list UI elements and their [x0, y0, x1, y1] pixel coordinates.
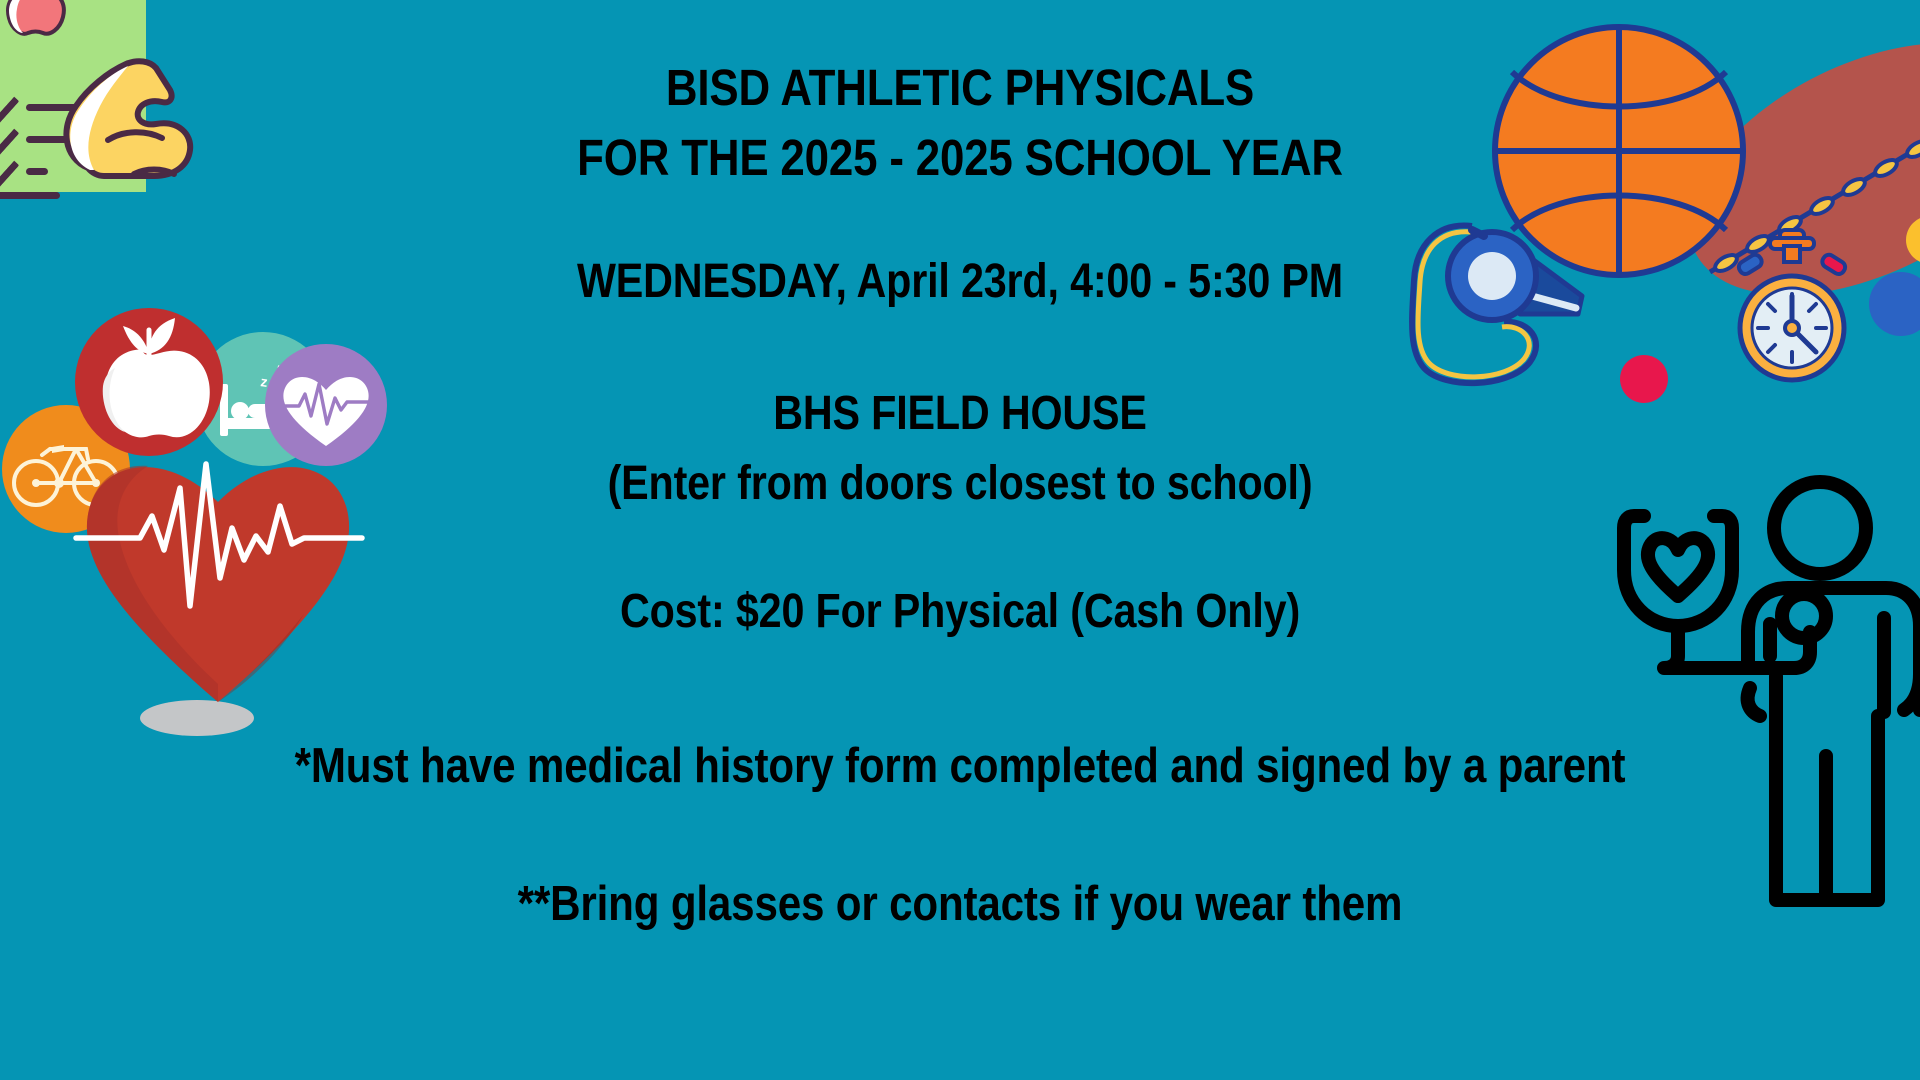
checklist-rule-3 — [26, 168, 48, 175]
flexed-bicep-icon — [46, 28, 196, 180]
checkmark-icon-3 — [0, 151, 19, 190]
cost-line: Cost: $20 For Physical (Cash Only) — [134, 588, 1785, 636]
stopwatch-icon — [1728, 228, 1856, 388]
blue-dot — [1869, 272, 1920, 336]
heart-ekg-illustration — [68, 410, 368, 670]
note-line-1: *Must have medical history form complete… — [134, 742, 1785, 791]
poster-canvas: Z Z z — [0, 0, 1920, 1080]
pink-dot — [1620, 355, 1668, 403]
patient-with-stethoscope-icon — [1598, 460, 1920, 930]
big-heart-icon — [68, 410, 368, 710]
location-line-2: (Enter from doors closest to school) — [134, 460, 1785, 508]
basketball-icon — [1490, 22, 1748, 280]
note-line-2: **Bring glasses or contacts if you wear … — [134, 880, 1785, 929]
checklist-rule-4 — [0, 192, 60, 199]
